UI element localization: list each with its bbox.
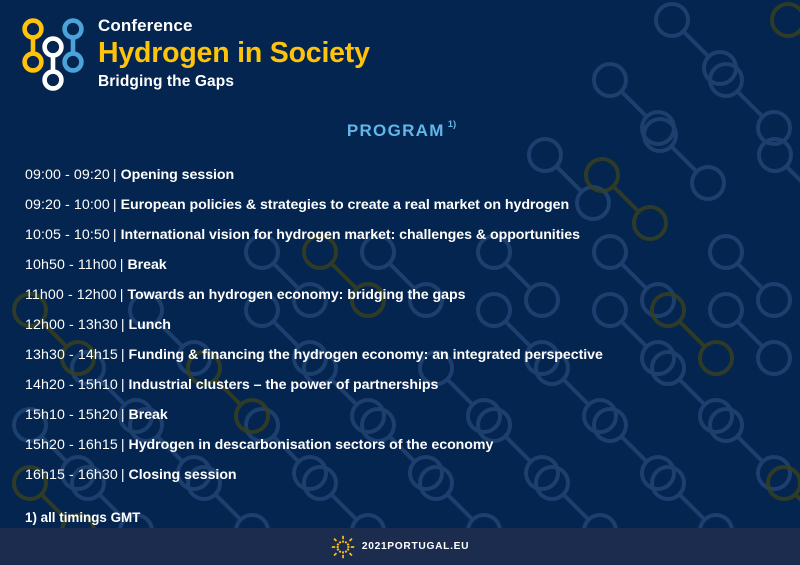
schedule-row-title: Towards an hydrogen economy: bridging th…	[127, 287, 465, 303]
schedule-row-title: Funding & financing the hydrogen economy…	[129, 347, 603, 363]
schedule-row-time: 09:20 - 10:00	[25, 197, 110, 213]
schedule-row-separator: |	[118, 467, 129, 483]
schedule-row-separator: |	[110, 227, 121, 243]
hydrogen-link-logo-icon	[22, 16, 84, 94]
poster-header: Conference Hydrogen in Society Bridging …	[0, 0, 370, 94]
footer-bar: 2021PORTUGAL.EU	[0, 528, 800, 565]
schedule-row-time: 12h00 - 13h30	[25, 317, 118, 333]
portugal-eu-logo: 2021PORTUGAL.EU	[331, 535, 469, 559]
schedule-row-title: Break	[129, 407, 168, 423]
schedule-row: 09:00 - 09:20|Opening session	[25, 160, 603, 190]
page-title: Hydrogen in Society	[98, 39, 370, 68]
schedule-row: 12h00 - 13h30|Lunch	[25, 310, 603, 340]
program-schedule-list: 09:00 - 09:20|Opening session09:20 - 10:…	[25, 160, 603, 490]
schedule-row-separator: |	[117, 257, 128, 273]
schedule-row-title: Hydrogen in descarbonisation sectors of …	[129, 437, 494, 453]
schedule-row: 11h00 - 12h00|Towards an hydrogen econom…	[25, 280, 603, 310]
program-heading: PROGRAM1)	[0, 121, 800, 141]
schedule-row-time: 15h20 - 16h15	[25, 437, 118, 453]
schedule-row-separator: |	[110, 197, 121, 213]
schedule-row-time: 09:00 - 09:20	[25, 167, 110, 183]
schedule-row-time: 13h30 - 14h15	[25, 347, 118, 363]
schedule-row-separator: |	[118, 347, 129, 363]
schedule-row-time: 10:05 - 10:50	[25, 227, 110, 243]
schedule-row-time: 10h50 - 11h00	[25, 257, 117, 273]
schedule-row: 16h15 - 16h30|Closing session	[25, 460, 603, 490]
schedule-row-time: 15h10 - 15h20	[25, 407, 118, 423]
page-subtitle: Bridging the Gaps	[98, 74, 370, 90]
schedule-row-title: Break	[127, 257, 166, 273]
schedule-row-time: 11h00 - 12h00	[25, 287, 117, 303]
schedule-row-separator: |	[118, 317, 129, 333]
conference-kicker: Conference	[98, 17, 370, 34]
schedule-row-title: Industrial clusters – the power of partn…	[129, 377, 439, 393]
footer-logo-text: 2021PORTUGAL.EU	[362, 541, 469, 552]
schedule-row: 15h20 - 16h15|Hydrogen in descarbonisati…	[25, 430, 603, 460]
schedule-row: 14h20 - 15h10|Industrial clusters – the …	[25, 370, 603, 400]
program-footnote: 1) all timings GMT	[25, 510, 140, 525]
schedule-row: 09:20 - 10:00|European policies & strate…	[25, 190, 603, 220]
conference-program-poster: Conference Hydrogen in Society Bridging …	[0, 0, 800, 565]
schedule-row-title: International vision for hydrogen market…	[121, 227, 580, 243]
schedule-row-time: 14h20 - 15h10	[25, 377, 118, 393]
schedule-row: 10h50 - 11h00|Break	[25, 250, 603, 280]
schedule-row-title: Lunch	[129, 317, 171, 333]
schedule-row-title: European policies & strategies to create…	[121, 197, 569, 213]
schedule-row-separator: |	[118, 437, 129, 453]
schedule-row: 15h10 - 15h20|Break	[25, 400, 603, 430]
program-heading-label: PROGRAM	[347, 121, 445, 140]
schedule-row: 10:05 - 10:50|International vision for h…	[25, 220, 603, 250]
sun-icon	[331, 535, 355, 559]
schedule-row-separator: |	[118, 377, 129, 393]
schedule-row: 13h30 - 14h15|Funding & financing the hy…	[25, 340, 603, 370]
title-block: Conference Hydrogen in Society Bridging …	[98, 14, 370, 89]
schedule-row-time: 16h15 - 16h30	[25, 467, 118, 483]
program-heading-footnote-mark: 1)	[448, 119, 456, 130]
schedule-row-title: Opening session	[121, 167, 235, 183]
schedule-row-separator: |	[118, 407, 129, 423]
schedule-row-separator: |	[117, 287, 128, 303]
schedule-row-title: Closing session	[129, 467, 237, 483]
schedule-row-separator: |	[110, 167, 121, 183]
